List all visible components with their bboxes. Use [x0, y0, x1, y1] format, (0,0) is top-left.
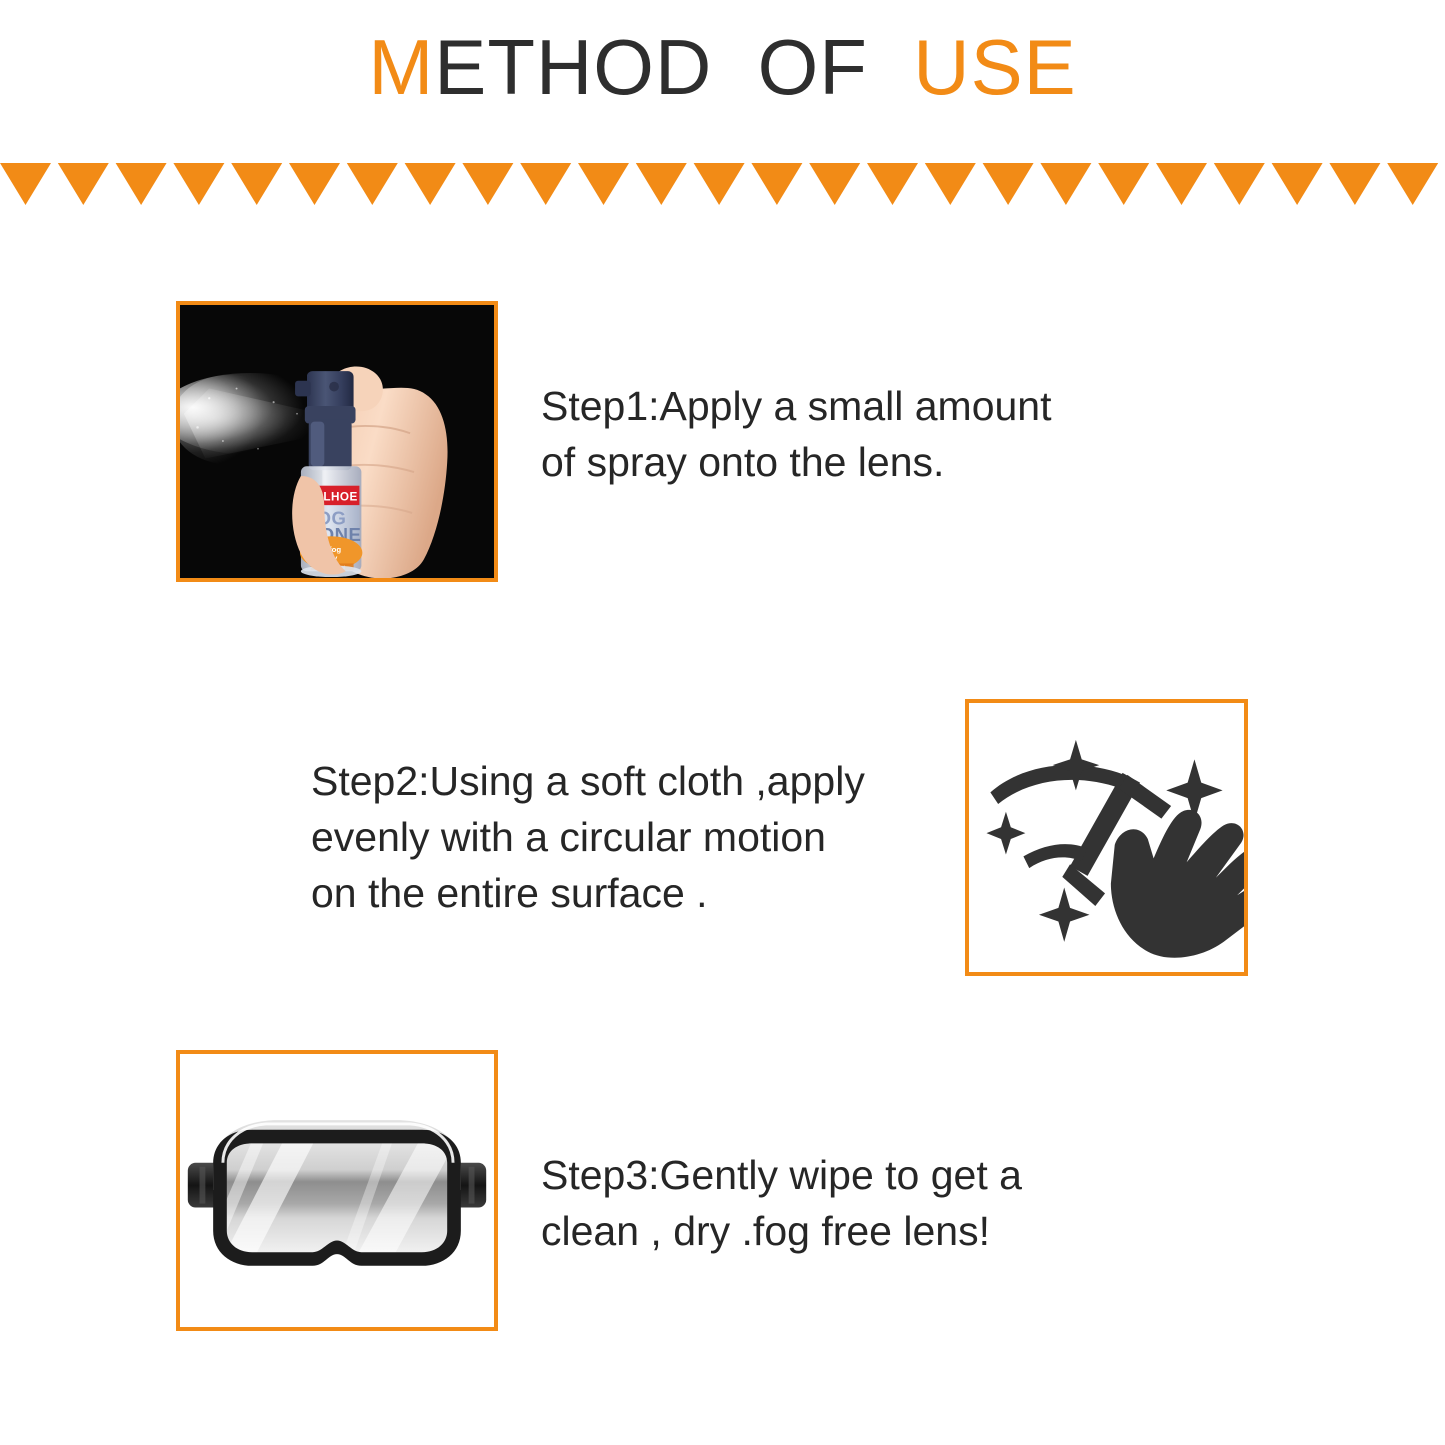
step2-text: Step2:Using a soft cloth ,apply evenly w… — [311, 753, 911, 921]
hand-icon — [1111, 810, 1244, 958]
wipe-clean-icon — [969, 703, 1244, 972]
spray-bottle-photo: EELHOE FOG GONE anti-fog spray 1.01oz | … — [180, 305, 494, 578]
page-title-part-1: M — [368, 23, 434, 111]
safety-goggles-illustration — [180, 1054, 494, 1327]
step3-text: Step3:Gently wipe to get a clean , dry .… — [541, 1147, 1081, 1259]
page-title-part-2: ETHOD OF — [434, 23, 913, 111]
step1-text: Step1:Apply a small amount of spray onto… — [541, 378, 1121, 490]
step2-image-frame — [965, 699, 1248, 976]
step1-image-frame: EELHOE FOG GONE anti-fog spray 1.01oz | … — [176, 301, 498, 582]
bunting-triangles — [0, 163, 1445, 205]
page-title-part-3: USE — [913, 23, 1076, 111]
triangle-bunting-divider — [0, 163, 1445, 207]
step3-image-frame — [176, 1050, 498, 1331]
page-title: METHOD OF USE — [0, 28, 1445, 106]
